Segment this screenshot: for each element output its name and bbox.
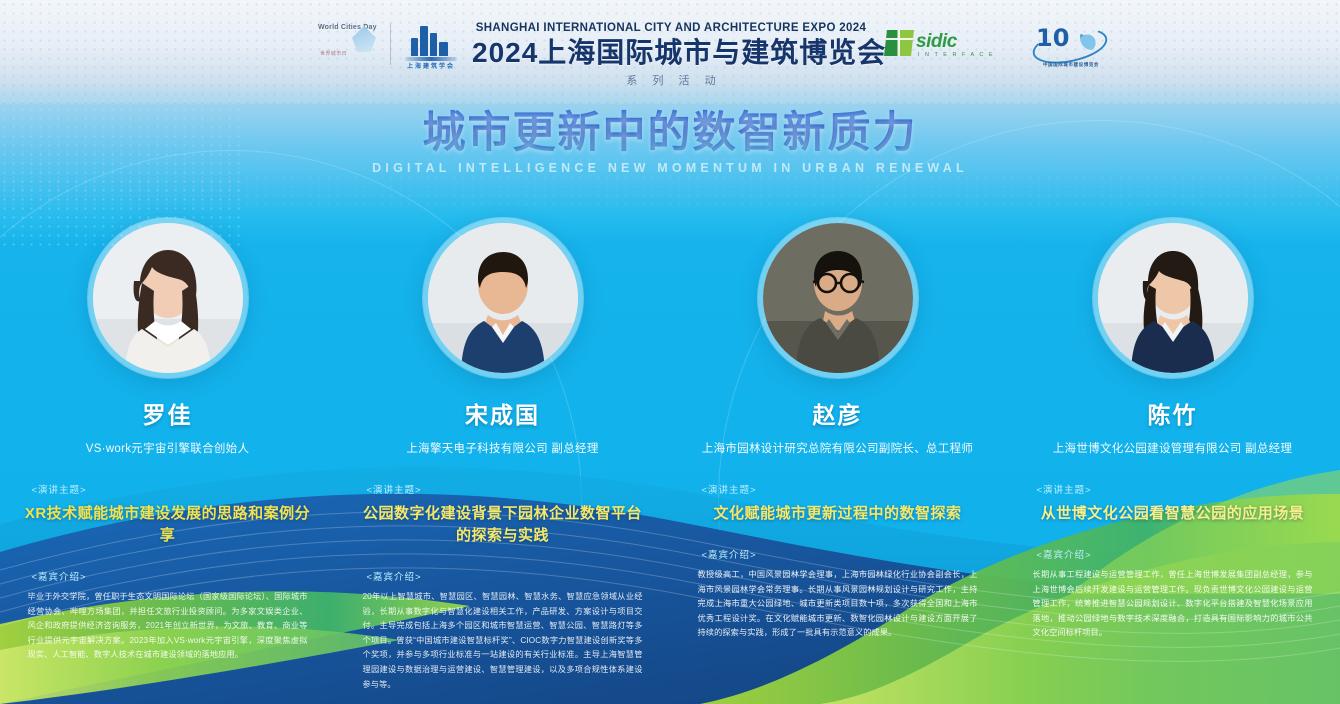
speaker-organization: VS·work元宇宙引擎联合创始人 <box>18 440 318 456</box>
speaker-organization: 上海世博文化公园建设管理有限公司 副总经理 <box>1023 440 1323 456</box>
avatar-ring <box>758 218 918 378</box>
sidic-sublabel: I N T E R F A C E <box>918 52 995 58</box>
world-cities-day-sublabel: 世界城市日 <box>320 50 347 57</box>
avatar <box>93 223 243 373</box>
speaker-topic: XR技术赋能城市建设发展的思路和案例分享 <box>18 503 318 547</box>
poster-header: World Cities Day 世界城市日 上海建筑学会 SHANGHAI I… <box>0 0 1340 104</box>
speaker-bio: 毕业于外交学院，曾任职于生态文明国际论坛（国家级国际论坛）、国际城市经营协会、哔… <box>18 590 318 663</box>
speaker-card: 罗佳 VS·work元宇宙引擎联合创始人 <演讲主题> XR技术赋能城市建设发展… <box>18 218 318 663</box>
expo-title-block: SHANGHAI INTERNATIONAL CITY AND ARCHITEC… <box>472 22 870 88</box>
speaker-name: 罗佳 <box>18 396 318 430</box>
avatar <box>763 223 913 373</box>
anniversary-swoosh-icon <box>1080 26 1104 50</box>
bio-label: <嘉宾介绍> <box>688 547 988 561</box>
topic-label: <演讲主题> <box>353 482 653 496</box>
sidic-mark-icon <box>884 30 914 56</box>
speaker-name: 宋成国 <box>353 396 653 430</box>
speaker-card: 赵彦 上海市园林设计研究总院有限公司副院长、总工程师 <演讲主题> 文化赋能城市… <box>688 218 988 641</box>
avatar-ring <box>423 218 583 378</box>
speaker-topic: 从世博文化公园看智慧公园的应用场景 <box>1023 503 1323 525</box>
sidic-wordmark: sidic <box>916 31 957 53</box>
avatar-ring <box>88 218 248 378</box>
speaker-organization: 上海擎天电子科技有限公司 副总经理 <box>353 440 653 456</box>
speaker-name: 赵彦 <box>688 396 988 430</box>
speaker-card: 陈竹 上海世博文化公园建设管理有限公司 副总经理 <演讲主题> 从世博文化公园看… <box>1023 218 1323 641</box>
expo-title-en: SHANGHAI INTERNATIONAL CITY AND ARCHITEC… <box>472 22 870 34</box>
main-heading-en: DIGITAL INTELLIGENCE NEW MOMENTUM IN URB… <box>0 161 1340 175</box>
topic-label: <演讲主题> <box>688 482 988 496</box>
anniversary-logo: 10 中国国际城市建设博览会 <box>1032 24 1110 68</box>
sidic-logo: sidic I N T E R F A C E <box>884 26 996 66</box>
speaker-bio: 长期从事工程建设与运营管理工作，曾任上海世博发展集团副总经理，参与上海世博会后续… <box>1023 568 1323 641</box>
speaker-organization: 上海市园林设计研究总院有限公司副院长、总工程师 <box>688 440 988 456</box>
speaker-card: 宋成国 上海擎天电子科技有限公司 副总经理 <演讲主题> 公园数字化建设背景下园… <box>353 218 653 692</box>
speaker-topic: 文化赋能城市更新过程中的数智探索 <box>688 503 988 525</box>
avatar <box>428 223 578 373</box>
architecture-society-label: 上海建筑学会 <box>403 61 459 70</box>
avatar <box>1098 223 1248 373</box>
header-right-logos: sidic I N T E R F A C E 10 中国国际城市建设博览会 <box>884 24 1110 68</box>
main-heading: 城市更新中的数智新质力 DIGITAL INTELLIGENCE NEW MOM… <box>0 108 1340 175</box>
topic-label: <演讲主题> <box>1023 482 1323 496</box>
speaker-grid: 罗佳 VS·work元宇宙引擎联合创始人 <演讲主题> XR技术赋能城市建设发展… <box>0 218 1340 692</box>
poster-canvas: World Cities Day 世界城市日 上海建筑学会 SHANGHAI I… <box>0 0 1340 704</box>
bio-label: <嘉宾介绍> <box>1023 547 1323 561</box>
avatar-ring <box>1093 218 1253 378</box>
header-left-logos: World Cities Day 世界城市日 上海建筑学会 <box>318 18 459 70</box>
architecture-society-logo: 上海建筑学会 <box>403 18 459 70</box>
main-heading-cn: 城市更新中的数智新质力 <box>0 108 1340 158</box>
expo-title-cn: 2024上海国际城市与建筑博览会 <box>472 36 870 70</box>
bio-label: <嘉宾介绍> <box>18 569 318 583</box>
world-cities-day-logo: World Cities Day 世界城市日 <box>318 20 378 68</box>
speaker-bio: 教授级高工，中国风景园林学会理事，上海市园林绿化行业协会副会长，上海市风景园林学… <box>688 568 988 641</box>
anniversary-caption: 中国国际城市建设博览会 <box>1032 62 1110 68</box>
speaker-bio: 20年以上智慧城市、智慧园区、智慧园林、智慧水务、智慧应急领域从业经验，长期从事… <box>353 590 653 692</box>
speaker-topic: 公园数字化建设背景下园林企业数智平台的探索与实践 <box>353 503 653 547</box>
anniversary-number: 10 <box>1036 24 1069 52</box>
speaker-name: 陈竹 <box>1023 396 1323 430</box>
expo-title-sub: 系 列 活 动 <box>472 72 870 88</box>
logo-divider <box>390 23 391 65</box>
topic-label: <演讲主题> <box>18 482 318 496</box>
bio-label: <嘉宾介绍> <box>353 569 653 583</box>
